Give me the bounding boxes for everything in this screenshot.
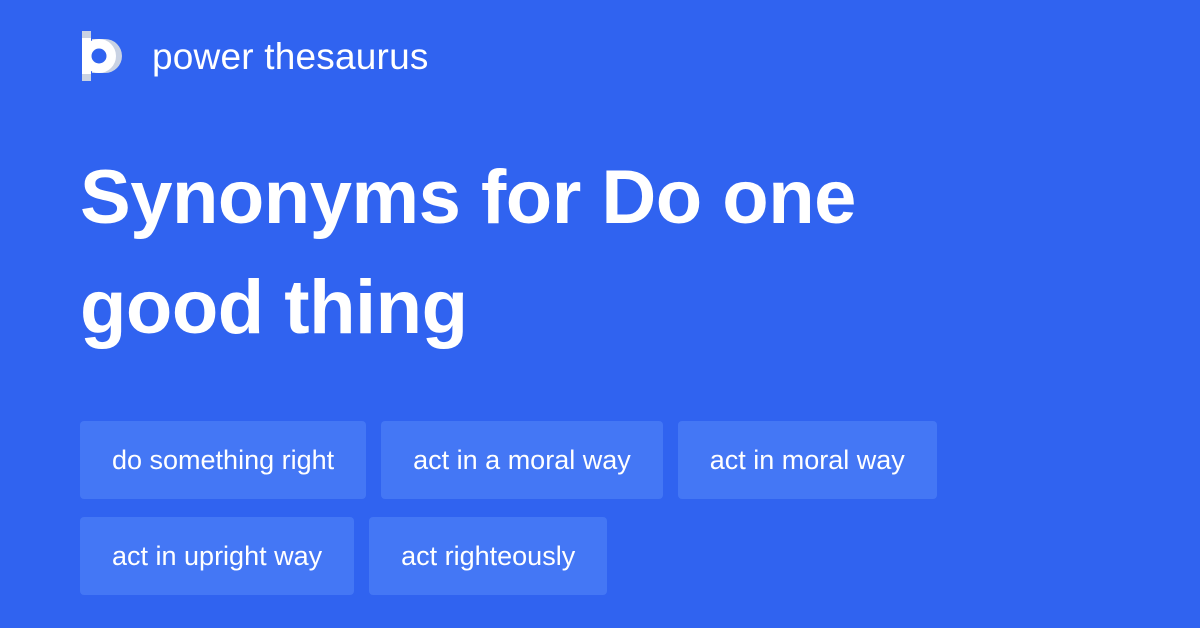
brand-header[interactable]: power thesaurus (80, 28, 429, 84)
brand-name: power thesaurus (152, 38, 429, 75)
synonym-chip[interactable]: act righteously (369, 517, 607, 595)
synonym-chip-list: do something right act in a moral way ac… (80, 421, 1120, 595)
synonym-chip[interactable]: act in upright way (80, 517, 354, 595)
synonym-chip[interactable]: act in moral way (678, 421, 937, 499)
page-title: Synonyms for Do one good thing (80, 143, 980, 363)
synonym-chip[interactable]: do something right (80, 421, 366, 499)
synonym-chip[interactable]: act in a moral way (381, 421, 663, 499)
og-card: power thesaurus Synonyms for Do one good… (0, 0, 1200, 628)
power-thesaurus-b-logo-icon (80, 31, 126, 81)
